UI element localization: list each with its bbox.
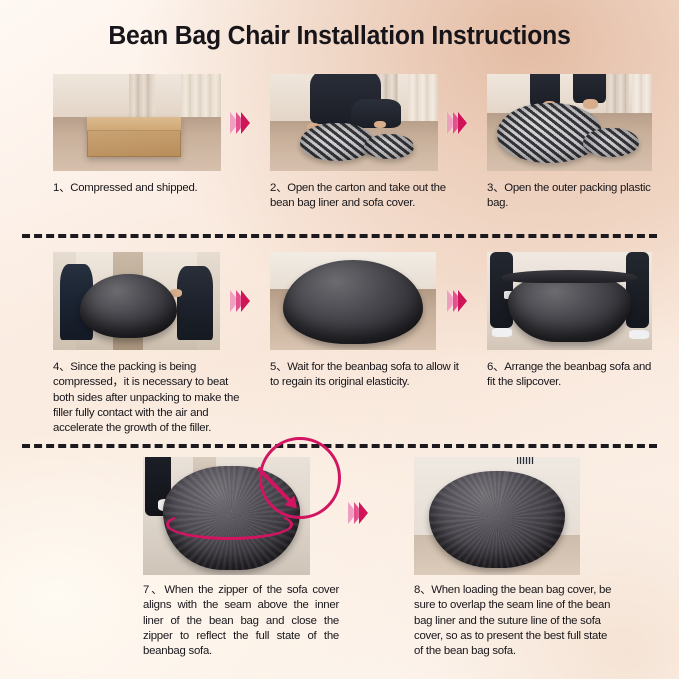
step-1-photo <box>53 74 221 171</box>
step-4-caption: 4、Since the packing is being compressed，… <box>53 360 245 436</box>
arrow-1-2 <box>230 112 247 134</box>
infographic-page: Bean Bag Chair Installation Instructions… <box>0 0 679 679</box>
step-8-caption: 8、When loading the bean bag cover, be su… <box>414 583 614 659</box>
step-2-photo <box>270 74 438 171</box>
step-3-caption: 3、Open the outer packing plastic bag. <box>487 181 659 212</box>
triple-chevron-right-icon <box>241 112 250 134</box>
step-7-caption: 7、When the zipper of the sofa cover alig… <box>143 583 339 659</box>
triple-chevron-right-icon <box>241 290 250 312</box>
step-7-photo <box>143 457 310 575</box>
step-5-photo <box>270 252 436 350</box>
triple-chevron-right-icon <box>458 290 467 312</box>
step-4-photo <box>53 252 220 350</box>
step-6-photo <box>487 252 652 350</box>
step-2-caption: 2、Open the carton and take out the bean … <box>270 181 460 212</box>
page-title: Bean Bag Chair Installation Instructions <box>10 22 669 51</box>
triple-chevron-right-icon <box>359 502 368 524</box>
step-5-caption: 5、Wait for the beanbag sofa to allow it … <box>270 360 460 391</box>
step-3-photo <box>487 74 652 171</box>
step-6-caption: 6、Arrange the beanbag sofa and fit the s… <box>487 360 659 391</box>
arrow-5-6 <box>447 290 464 312</box>
arrow-7-8 <box>348 502 365 524</box>
step-1-caption: 1、Compressed and shipped. <box>53 181 235 196</box>
divider-2 <box>22 444 657 448</box>
divider-1 <box>22 234 657 238</box>
triple-chevron-right-icon <box>458 112 467 134</box>
arrow-4-5 <box>230 290 247 312</box>
arrow-2-3 <box>447 112 464 134</box>
step-8-photo <box>414 457 580 575</box>
